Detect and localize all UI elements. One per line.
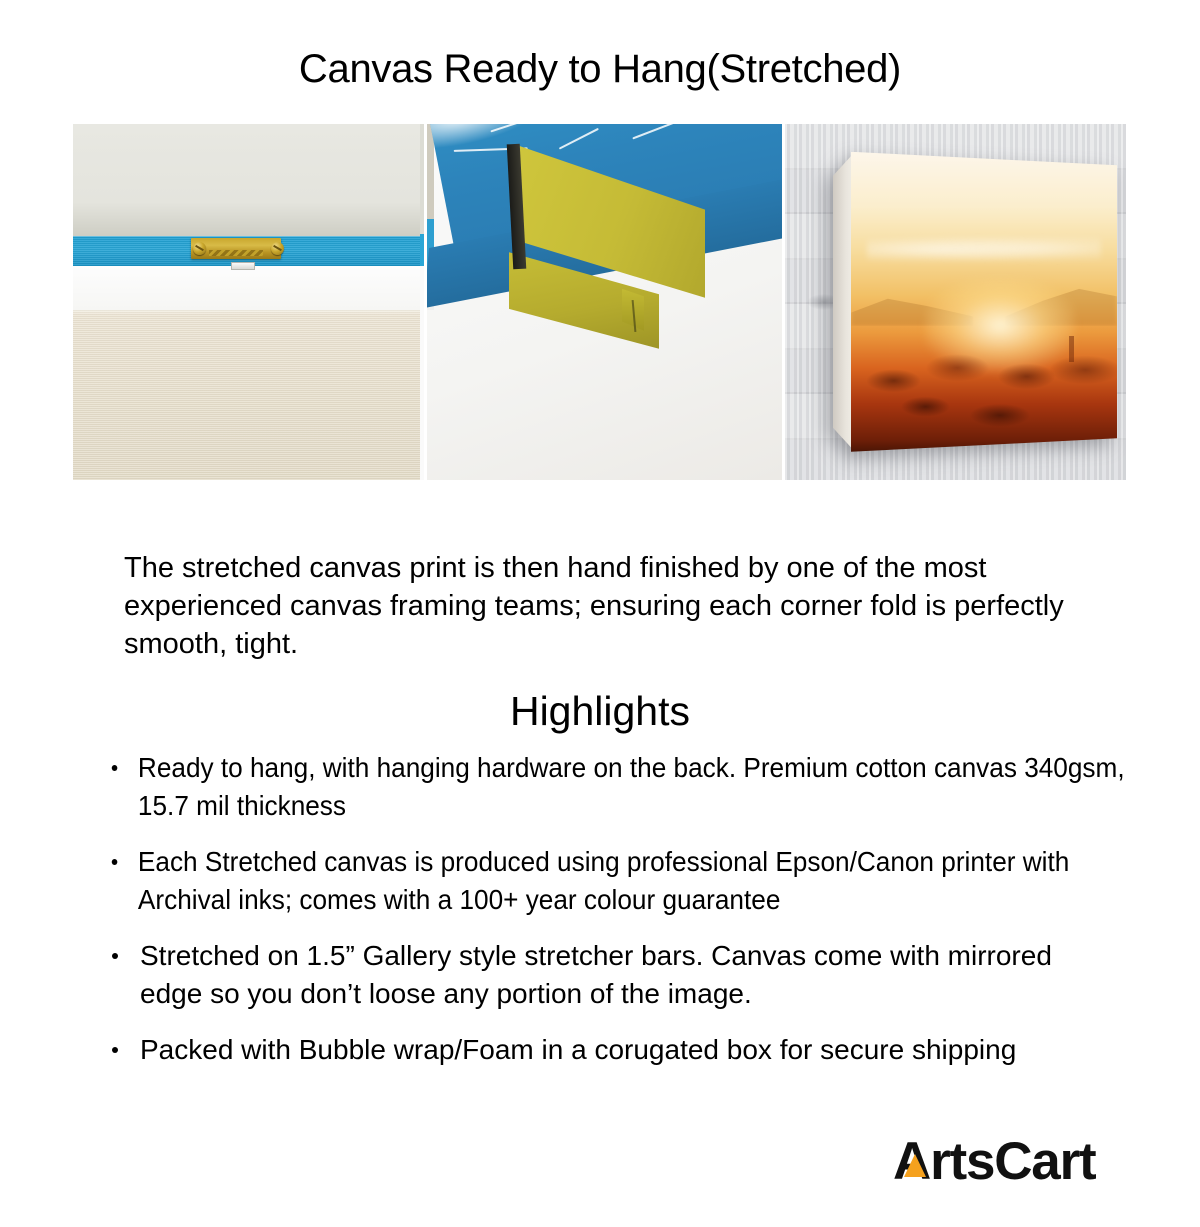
page-title: Canvas Ready to Hang(Stretched) — [0, 27, 1200, 89]
list-item: Ready to hang, with hanging hardware on … — [108, 749, 1138, 825]
bullet-dot-icon — [112, 953, 118, 959]
canvas-edge-highlight — [73, 310, 424, 315]
product-description-paragraph: The stretched canvas print is then hand … — [124, 549, 1074, 663]
orange-triangle-icon — [904, 1154, 926, 1177]
list-item: Packed with Bubble wrap/Foam in a coruga… — [108, 1031, 1108, 1069]
logo-text: ArtsCart — [893, 1134, 1165, 1190]
product-image-gallery — [73, 124, 1128, 480]
screw-icon — [271, 242, 284, 255]
bullet-dot-icon — [112, 765, 118, 771]
adjacent-frame-sliver — [420, 124, 424, 480]
list-item: Stretched on 1.5” Gallery style stretche… — [108, 937, 1108, 1013]
hung-canvas — [833, 152, 1117, 452]
brand-logo[interactable]: ArtsCart — [893, 1131, 1165, 1193]
screw-icon — [193, 242, 206, 255]
list-item-label: Packed with Bubble wrap/Foam in a coruga… — [140, 1034, 1016, 1065]
white-canvas-band — [73, 266, 424, 310]
bullet-dot-icon — [112, 1047, 118, 1053]
logo-mark: ArtsCart — [893, 1134, 1165, 1190]
raw-cotton-canvas-area — [73, 310, 424, 480]
highlights-heading: Highlights — [0, 688, 1200, 735]
list-item-label: Each Stretched canvas is produced using … — [138, 846, 1069, 915]
list-item: Each Stretched canvas is produced using … — [108, 843, 1138, 919]
cloud-band — [867, 236, 1101, 263]
bullet-dot-icon — [112, 859, 118, 865]
highlights-list: Ready to hang, with hanging hardware on … — [108, 749, 1108, 1087]
list-item-label: Ready to hang, with hanging hardware on … — [138, 752, 1125, 821]
gallery-image-canvas-corner-fold-detail[interactable] — [427, 124, 782, 480]
gallery-image-canvas-hung-on-wall[interactable] — [785, 124, 1126, 480]
foreground-treeline — [851, 344, 1117, 452]
metal-tab — [231, 262, 255, 270]
sunset-landscape-print — [851, 152, 1117, 452]
list-item-label: Stretched on 1.5” Gallery style stretche… — [140, 940, 1052, 1009]
gallery-image-canvas-back-hanging-hardware[interactable] — [73, 124, 424, 480]
